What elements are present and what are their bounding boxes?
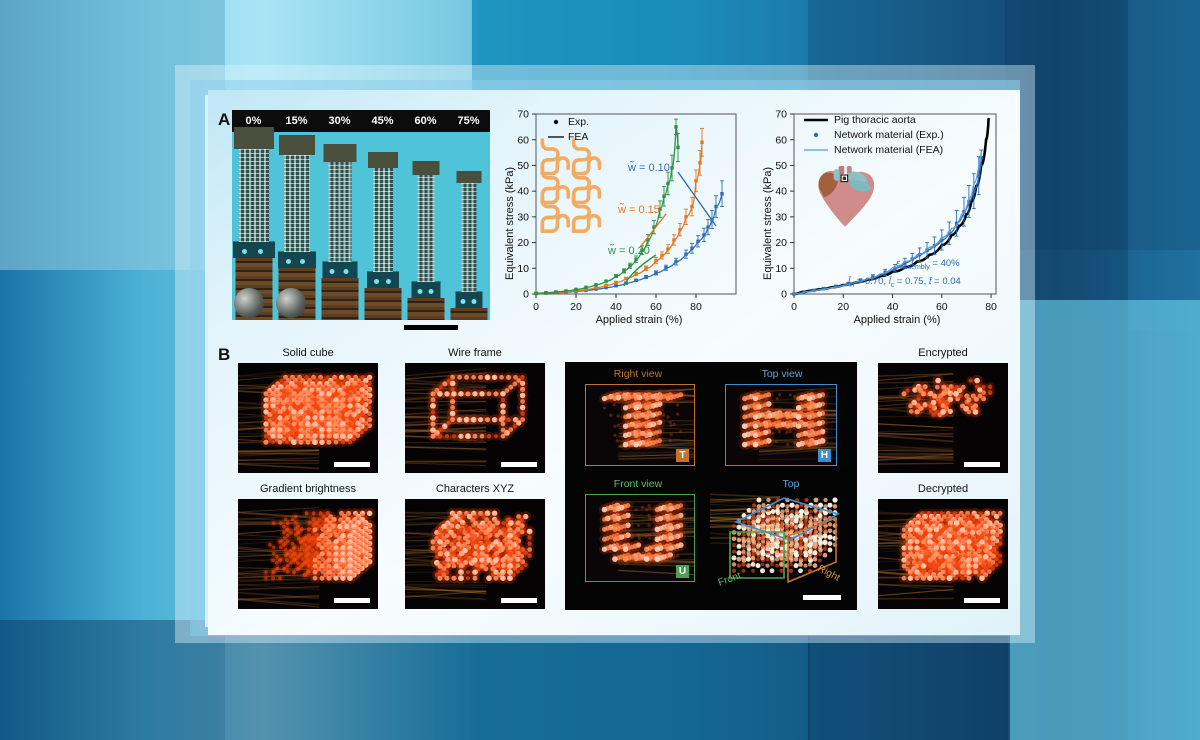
svg-text:60: 60 (775, 134, 787, 146)
tile-caption-wire-frame: Wire frame (405, 347, 545, 359)
legend-network-exp-label: Network material (Exp.) (834, 129, 944, 141)
svg-text:80: 80 (690, 301, 702, 313)
grip-knob (234, 288, 264, 318)
chart-middle-ylabel: Equivalent stress (kPa) (504, 167, 516, 280)
annotation-w020: w̃ = 0.20 (608, 245, 650, 257)
scale-bar (803, 595, 841, 600)
tile-image-gradient-brightness (238, 499, 378, 609)
svg-text:50: 50 (775, 160, 787, 172)
chart-right-ylabel: Equivalent stress (kPa) (762, 167, 774, 280)
panel-a-photo: 0% 15% 30% 45% 60% 75% (232, 110, 490, 320)
scale-bar (501, 598, 537, 603)
chart-middle: Equivalent stress (kPa) Applied strain (… (498, 100, 748, 335)
specimen (318, 132, 361, 320)
scale-bar (964, 598, 1000, 603)
strain-label: 60% (404, 110, 447, 132)
tile-caption-encrypted: Encrypted (878, 347, 1008, 359)
panel-a-letter: A (218, 110, 230, 130)
tile-image-wire-frame (405, 363, 545, 473)
tile-image-characters-xyz (405, 499, 545, 609)
tile-caption-characters-xyz: Characters XYZ (405, 483, 545, 495)
chart-middle-canvas: 020406080010203040506070 (498, 100, 748, 335)
strain-label: 15% (275, 110, 318, 132)
tile-image-solid-cube (238, 363, 378, 473)
grip-knob (276, 288, 306, 318)
svg-text:30: 30 (775, 211, 787, 223)
legend-exp-label: Exp. (568, 116, 589, 128)
scale-bar (334, 462, 370, 467)
tile-caption-solid-cube: Solid cube (238, 347, 378, 359)
svg-text:20: 20 (775, 237, 787, 249)
panel-b-letter: B (218, 345, 230, 365)
svg-text:10: 10 (775, 263, 787, 275)
led-cube-render (238, 363, 378, 473)
svg-text:70: 70 (517, 109, 529, 121)
tile-caption-decrypted: Decrypted (878, 483, 1008, 495)
led-cube-render (878, 499, 1008, 609)
tile-image-encrypted (878, 363, 1008, 473)
svg-text:40: 40 (775, 186, 787, 198)
strain-label: 75% (447, 110, 490, 132)
scale-bar (964, 462, 1000, 467)
view-caption-right: Right view (573, 368, 703, 380)
svg-text:0: 0 (523, 289, 529, 301)
legend-fea-label: FEA (568, 131, 588, 143)
svg-text:30: 30 (517, 211, 529, 223)
svg-text:60: 60 (650, 301, 662, 313)
svg-text:0: 0 (781, 289, 787, 301)
led-cube-render (405, 363, 545, 473)
chart-middle-xlabel: Applied strain (%) (534, 314, 744, 326)
chart-right: Equivalent stress (kPa) Applied strain (… (756, 100, 1008, 335)
svg-text:20: 20 (570, 301, 582, 313)
strain-label: 45% (361, 110, 404, 132)
svg-text:70: 70 (775, 109, 787, 121)
view-caption-front: Front view (573, 478, 703, 490)
svg-text:10: 10 (517, 263, 529, 275)
view-caption-top: Top view (717, 368, 847, 380)
specimen (447, 132, 490, 320)
svg-text:0: 0 (791, 301, 797, 313)
specimen (361, 132, 404, 320)
legend-network-fea-label: Network material (FEA) (834, 144, 943, 156)
svg-text:60: 60 (936, 301, 948, 313)
view-tag-t: T (676, 449, 689, 462)
svg-text:20: 20 (837, 301, 849, 313)
svg-text:40: 40 (887, 301, 899, 313)
scale-bar (501, 462, 537, 467)
svg-text:0: 0 (533, 301, 539, 313)
led-cube-render (878, 363, 1008, 473)
background-band (1128, 0, 1200, 330)
annotation-w015: w̃ = 0.15 (618, 204, 660, 216)
svg-text:40: 40 (517, 186, 529, 198)
led-cube-render (238, 499, 378, 609)
figure-stage: A 0% 15% 30% 45% 60% 75% Equivalent stre… (0, 0, 1200, 740)
svg-text:40: 40 (610, 301, 622, 313)
background-band (1010, 300, 1200, 740)
multi-view-panel: Right view T Top view H Front view U Top… (565, 362, 857, 610)
annotation-assembly-strain: εassembly = 40% (896, 258, 960, 271)
view-tag-h: H (818, 449, 831, 462)
led-cube-render (405, 499, 545, 609)
panel-a-scale-bar (404, 325, 458, 330)
scale-bar (334, 598, 370, 603)
annotation-w010: w̃ = 0.10 (628, 162, 670, 174)
tile-caption-gradient-brightness: Gradient brightness (230, 483, 386, 495)
svg-text:20: 20 (517, 237, 529, 249)
cube-face-label-top: Top (751, 478, 831, 490)
legend-aorta-label: Pig thoracic aorta (834, 114, 916, 126)
figure-card: A 0% 15% 30% 45% 60% 75% Equivalent stre… (208, 90, 1020, 635)
svg-text:80: 80 (985, 301, 997, 313)
specimen (404, 132, 447, 320)
strain-label: 30% (318, 110, 361, 132)
svg-text:60: 60 (517, 134, 529, 146)
tile-image-decrypted (878, 499, 1008, 609)
chart-right-xlabel: Applied strain (%) (792, 314, 1002, 326)
view-tag-u: U (676, 565, 689, 578)
svg-text:50: 50 (517, 160, 529, 172)
annotation-geometry-params: l̄h = 0.70, l̄c = 0.75, t̄ = 0.04 (848, 276, 961, 289)
